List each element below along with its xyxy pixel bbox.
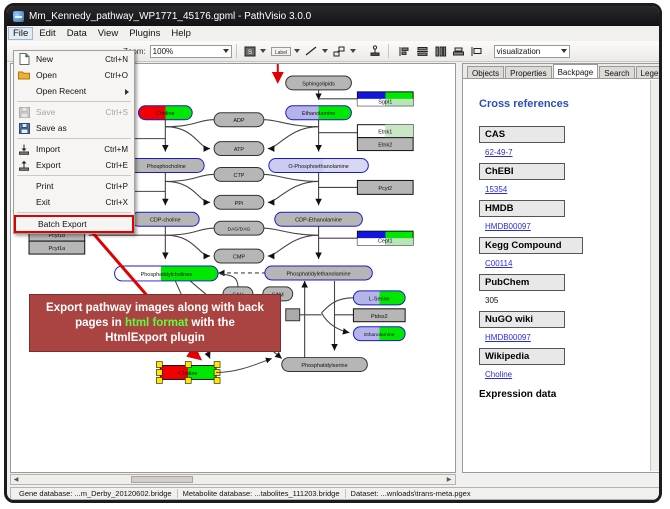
menu-item-new-label: New — [32, 54, 105, 64]
shape-tool-icon[interactable]: S — [242, 43, 258, 59]
tab-properties[interactable]: Properties — [505, 66, 551, 78]
svg-text:Ethanolamine: Ethanolamine — [302, 111, 335, 117]
interaction-tool-icon[interactable] — [332, 43, 348, 59]
menu-item-save-as[interactable]: Save as — [14, 120, 134, 136]
db-value-hmdb[interactable]: HMDB00097 — [485, 222, 642, 231]
menu-plugins[interactable]: Plugins — [124, 27, 165, 40]
menu-file[interactable]: File — [8, 27, 33, 40]
save-icon — [16, 105, 32, 119]
align-left-icon[interactable] — [397, 43, 413, 59]
folder-open-icon — [16, 68, 32, 82]
menu-separator-3 — [17, 175, 131, 176]
menu-view[interactable]: View — [93, 27, 123, 40]
pathvisio-icon — [13, 11, 24, 22]
window-title: Mm_Kennedy_pathway_WP1771_45176.gpml - P… — [29, 11, 311, 22]
application-window: Mm_Kennedy_pathway_WP1771_45176.gpml - P… — [4, 3, 662, 503]
svg-text:Phosphocholine: Phosphocholine — [147, 164, 186, 170]
status-gene-database: Gene database: ...m_Derby_20120602.bridg… — [14, 489, 178, 498]
svg-text:Sphingolipids: Sphingolipids — [302, 81, 335, 87]
menu-item-save-as-label: Save as — [32, 123, 128, 133]
menu-item-export-label: Export — [32, 160, 106, 170]
annotation-line-2a: pages in — [75, 317, 125, 329]
canvas-horizontal-scrollbar[interactable]: ◀ ▶ — [10, 474, 456, 485]
line-tool-icon[interactable] — [304, 43, 320, 59]
db-value-pubchem: 305 — [485, 296, 642, 305]
db-value-nugo[interactable]: HMDB00097 — [485, 333, 642, 342]
menu-item-import[interactable]: Import Ctrl+M — [14, 141, 134, 157]
menu-item-new-accel: Ctrl+N — [105, 55, 134, 64]
svg-text:Pcyt1b: Pcyt1b — [49, 233, 66, 239]
distribute-icon[interactable] — [433, 43, 449, 59]
menu-item-import-accel: Ctrl+M — [104, 145, 134, 154]
menu-separator-1 — [17, 101, 131, 102]
svg-text:PPi: PPi — [235, 201, 244, 207]
svg-text:CTP: CTP — [234, 173, 245, 179]
status-bar: Gene database: ...m_Derby_20120602.bridg… — [10, 487, 661, 500]
annotation-line-1: Export pathway images along with back — [46, 302, 264, 314]
svg-text:Choline: Choline — [179, 371, 198, 377]
backpage-content: Cross references CAS 62-49-7 ChEBI 15354… — [469, 82, 650, 470]
scrollbar-thumb[interactable] — [131, 476, 193, 483]
tab-backpage[interactable]: Backpage — [553, 64, 599, 78]
svg-text:CDP-choline: CDP-choline — [150, 218, 181, 224]
anchor-tool-icon[interactable] — [367, 43, 383, 59]
svg-text:CDP-Ethanolamine: CDP-Ethanolamine — [295, 218, 342, 224]
db-value-cas[interactable]: 62-49-7 — [485, 148, 642, 157]
menu-item-print[interactable]: Print Ctrl+P — [14, 178, 134, 194]
db-label-pubchem: PubChem — [479, 274, 565, 291]
empty-icon-4 — [18, 217, 34, 231]
menu-item-import-label: Import — [32, 144, 104, 154]
menu-item-save: Save Ctrl+S — [14, 104, 134, 120]
side-panel-scrollbar[interactable] — [650, 80, 659, 471]
svg-text:S: S — [248, 50, 252, 56]
title-bar: Mm_Kennedy_pathway_WP1771_45176.gpml - P… — [7, 6, 659, 26]
toolbar-separator-2 — [388, 44, 389, 58]
menu-item-export[interactable]: Export Ctrl+E — [14, 157, 134, 173]
import-icon — [16, 142, 32, 156]
menu-item-exit-label: Exit — [32, 197, 106, 207]
label-tool-icon[interactable]: Label — [270, 43, 292, 59]
empty-icon-3 — [16, 195, 32, 209]
db-label-cas: CAS — [479, 126, 565, 143]
menu-item-export-accel: Ctrl+E — [106, 161, 134, 170]
svg-text:Phosphatidylethanolamine: Phosphatidylethanolamine — [287, 271, 351, 277]
svg-text:ADP: ADP — [233, 118, 245, 124]
interaction-dropdown-icon[interactable] — [350, 49, 356, 53]
menu-help[interactable]: Help — [166, 27, 196, 40]
svg-text:Label: Label — [275, 49, 287, 55]
status-metabolite-database: Metabolite database: ...tabolites_111203… — [178, 489, 346, 498]
svg-text:Etnk2: Etnk2 — [378, 143, 392, 149]
svg-text:O-Phosphoethanolamine: O-Phosphoethanolamine — [288, 164, 349, 170]
export-icon — [16, 158, 32, 172]
expression-data-title: Expression data — [479, 389, 642, 400]
empty-icon — [16, 84, 32, 98]
visualization-value: visualization — [497, 47, 541, 56]
stack-icon[interactable] — [451, 43, 467, 59]
file-menu-dropdown[interactable]: New Ctrl+N Open Ctrl+O Open Recent Save … — [13, 50, 135, 234]
svg-text:Ptdss2: Ptdss2 — [371, 314, 388, 320]
toolbar-separator — [236, 44, 237, 58]
side-panel: Objects Properties Backpage Search Legen… — [462, 63, 661, 473]
selected-node-choline[interactable]: Choline — [156, 362, 220, 384]
menu-item-batch-export-label: Batch Export — [34, 219, 126, 229]
svg-text:Pcyt2: Pcyt2 — [378, 186, 392, 192]
anchor-node — [286, 309, 300, 321]
db-label-hmdb: HMDB — [479, 200, 565, 217]
svg-text:Sgpl1: Sgpl1 — [378, 99, 392, 105]
menu-item-print-label: Print — [32, 181, 106, 191]
menu-data[interactable]: Data — [62, 27, 92, 40]
db-value-kegg[interactable]: C00114 — [485, 259, 642, 268]
menu-edit[interactable]: Edit — [34, 27, 60, 40]
db-value-chebi[interactable]: 15354 — [485, 185, 642, 194]
empty-icon-2 — [16, 179, 32, 193]
menu-item-new[interactable]: New Ctrl+N — [14, 51, 134, 67]
menu-separator-2 — [17, 138, 131, 139]
tab-legend[interactable]: Legend — [636, 66, 661, 78]
svg-text:Choline: Choline — [156, 111, 175, 117]
svg-text:Ethanolamine: Ethanolamine — [364, 332, 395, 338]
svg-text:Etnk1: Etnk1 — [378, 130, 392, 136]
align-center-icon[interactable] — [415, 43, 431, 59]
db-label-wikipedia: Wikipedia — [479, 348, 565, 365]
menu-item-save-accel: Ctrl+S — [106, 108, 134, 117]
menu-item-batch-export[interactable]: Batch Export — [14, 215, 134, 233]
menu-item-open-recent-label: Open Recent — [32, 86, 128, 96]
annotation-callout: Export pathway images along with back pa… — [29, 294, 281, 352]
db-label-nugo: NuGO wiki — [479, 311, 565, 328]
svg-text:Phosphatidylserine: Phosphatidylserine — [301, 363, 347, 369]
tab-search[interactable]: Search — [599, 66, 634, 78]
db-label-kegg: Kegg Compound — [479, 237, 583, 254]
svg-text:CMP: CMP — [233, 255, 246, 261]
svg-text:DAG/DAG: DAG/DAG — [228, 227, 251, 233]
group-icon[interactable] — [469, 43, 485, 59]
menu-item-exit[interactable]: Exit Ctrl+X — [14, 194, 134, 210]
menu-item-print-accel: Ctrl+P — [106, 182, 134, 191]
line-dropdown-icon[interactable] — [322, 49, 328, 53]
shape-dropdown-icon[interactable] — [260, 49, 266, 53]
zoom-value: 100% — [153, 47, 173, 56]
cross-references-title: Cross references — [479, 98, 642, 110]
annotation-line-3: HtmlExport plugin — [105, 332, 205, 344]
menu-item-open-recent[interactable]: Open Recent — [14, 83, 134, 99]
chevron-down-icon-2 — [561, 49, 567, 53]
db-label-chebi: ChEBI — [479, 163, 565, 180]
annotation-line-2b: with the — [188, 317, 235, 329]
scroll-right-icon[interactable]: ▶ — [444, 475, 454, 484]
menu-item-open-accel: Ctrl+O — [105, 71, 134, 80]
menu-item-exit-accel: Ctrl+X — [106, 198, 134, 207]
menu-bar: File Edit Data View Plugins Help — [7, 26, 659, 42]
svg-text:ATP: ATP — [234, 147, 245, 153]
scroll-left-icon[interactable]: ◀ — [11, 475, 21, 484]
visualization-combo[interactable]: visualization — [494, 45, 570, 58]
db-value-wikipedia[interactable]: Choline — [485, 370, 642, 379]
chevron-down-icon — [223, 49, 229, 53]
svg-text:Cept1: Cept1 — [378, 239, 393, 245]
svg-text:L-Serine: L-Serine — [369, 296, 390, 302]
new-document-icon — [16, 52, 32, 66]
zoom-combo[interactable]: 100% — [150, 45, 232, 58]
save-as-icon — [16, 121, 32, 135]
tab-objects[interactable]: Objects — [467, 66, 504, 78]
menu-separator-4 — [17, 212, 131, 213]
status-dataset: Dataset: ...wnloads\trans-meta.pgex — [346, 489, 476, 498]
label-dropdown-icon[interactable] — [294, 49, 300, 53]
menu-item-save-label: Save — [32, 107, 106, 117]
menu-item-open-label: Open — [32, 70, 105, 80]
svg-text:Pcyt1a: Pcyt1a — [49, 246, 67, 252]
svg-text:Phosphatidylcholines: Phosphatidylcholines — [141, 272, 193, 278]
side-panel-tabs: Objects Properties Backpage Search Legen… — [463, 64, 660, 79]
annotation-highlight: html format — [125, 317, 188, 329]
menu-item-open[interactable]: Open Ctrl+O — [14, 67, 134, 83]
